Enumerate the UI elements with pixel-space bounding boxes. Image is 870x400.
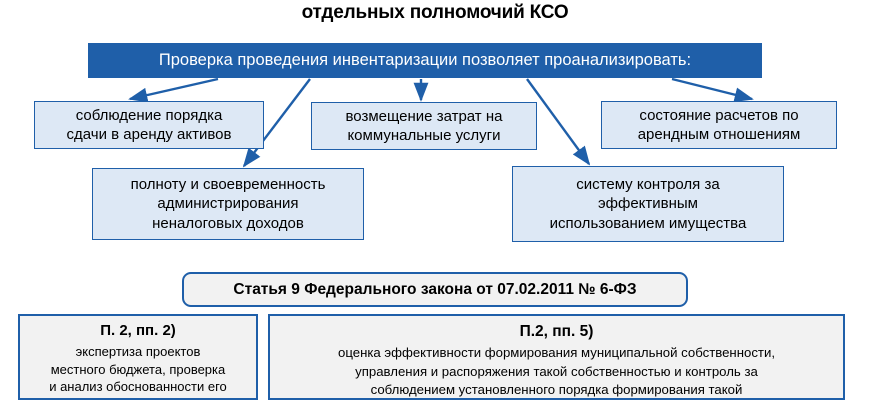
box-completeness-line-3: неналоговых доходов [131,214,326,233]
box-rent-line-2: сдачи в аренду активов [67,125,232,144]
box-control-line-2: эффективным [550,194,747,213]
slide-canvas: отдельных полномочий КСО Проверка провед… [0,0,870,400]
box-control-line-1: систему контроля за [550,175,747,194]
arrow-to-rent [130,79,218,99]
box-completeness-administration: полноту и своевременность администрирова… [92,168,364,240]
box-clause-2-5-line-1: оценка эффективности формирования муници… [274,344,839,362]
box-settlements-line-2: арендным отношениям [638,125,801,144]
box-clause-2-5-line-2: управления и распоряжения такой собствен… [274,363,839,381]
box-utilities-line-1: возмещение затрат на [346,107,503,126]
box-control-line-3: использованием имущества [550,214,747,233]
arrow-to-settlements [672,79,752,99]
box-clause-2-2-heading: П. 2, пп. 2) [24,321,252,341]
page-title: отдельных полномочий КСО [0,2,870,24]
box-rent-line-1: соблюдение порядка [67,106,232,125]
box-clause-2-5-line-3: соблюдением установленного порядка форми… [274,381,839,399]
box-completeness-line-2: администрирования [131,194,326,213]
box-settlements-status: состояние расчетов по арендным отношения… [601,101,837,149]
box-control-system: систему контроля за эффективным использо… [512,166,784,242]
box-clause-2-2-line-2: местного бюджета, проверка [24,361,252,379]
article-reference-label: Статья 9 Федерального закона от 07.02.20… [233,281,636,299]
box-clause-2-5: П.2, пп. 5) оценка эффективности формиро… [268,314,845,400]
inventory-check-banner: Проверка проведения инвентаризации позво… [88,43,762,78]
box-clause-2-2-line-3: и анализ обоснованности его [24,378,252,396]
box-rent-procedure: соблюдение порядка сдачи в аренду активо… [34,101,264,149]
box-settlements-line-1: состояние расчетов по [638,106,801,125]
box-utilities-line-2: коммунальные услуги [346,126,503,145]
box-clause-2-2-line-1: экспертиза проектов [24,343,252,361]
box-clause-2-5-heading: П.2, пп. 5) [274,321,839,342]
box-utilities-reimbursement: возмещение затрат на коммунальные услуги [311,102,537,150]
article-reference-banner: Статья 9 Федерального закона от 07.02.20… [182,272,688,307]
box-completeness-line-1: полноту и своевременность [131,175,326,194]
box-clause-2-2: П. 2, пп. 2) экспертиза проектов местног… [18,314,258,400]
inventory-check-banner-label: Проверка проведения инвентаризации позво… [159,52,691,69]
